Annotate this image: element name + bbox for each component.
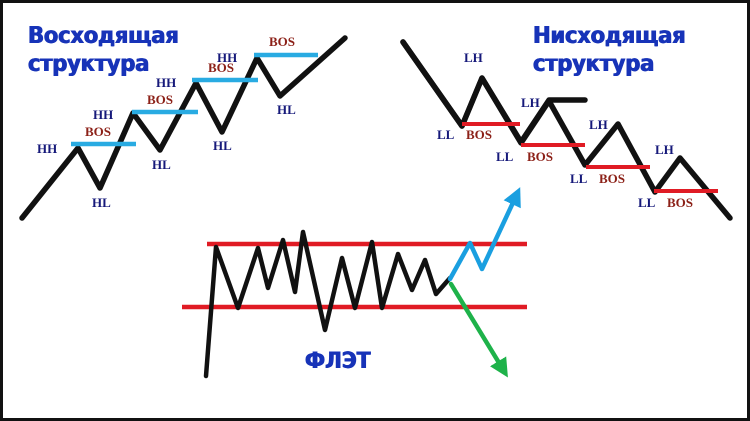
label-ll-4: LL (638, 196, 655, 209)
title-downtrend-line2: структура (533, 51, 654, 77)
label-hl-2: HL (152, 158, 171, 171)
label-hh-3: HH (156, 76, 176, 89)
label-ll-2: LL (496, 150, 513, 163)
label-ll-3: LL (570, 172, 587, 185)
title-uptrend-line2: структура (28, 51, 149, 77)
label-hl-1: HL (92, 196, 111, 209)
label-hh-2: HH (93, 108, 113, 121)
title-downtrend-line1: Нисходящая (533, 23, 685, 49)
label-bos-up-4: BOS (269, 35, 295, 48)
label-bos-down-1: BOS (466, 128, 492, 141)
label-bos-down-2: BOS (527, 150, 553, 163)
title-downtrend: Нисходящаяструктура (533, 22, 685, 78)
market-structure-infographic: Восходящаяструктура Нисходящаяструктура … (0, 0, 750, 421)
label-hl-3: HL (213, 139, 232, 152)
label-lh-3: LH (589, 118, 608, 131)
label-bos-up-3: BOS (208, 61, 234, 74)
breakout-up-arrow (450, 194, 517, 279)
title-uptrend-line1: Восходящая (28, 23, 179, 49)
label-lh-1: LH (464, 51, 483, 64)
label-lh-2: LH (521, 96, 540, 109)
label-bos-up-1: BOS (85, 125, 111, 138)
label-hl-4: HL (277, 103, 296, 116)
label-hh-1: HH (37, 142, 57, 155)
label-ll-1: LL (437, 128, 454, 141)
label-bos-down-3: BOS (599, 172, 625, 185)
label-lh-4: LH (655, 143, 674, 156)
label-bos-up-2: BOS (147, 93, 173, 106)
label-bos-down-4: BOS (667, 196, 693, 209)
title-flat: ФЛЭТ (305, 349, 371, 376)
title-uptrend: Восходящаяструктура (28, 22, 179, 78)
breakdown-down-arrow (451, 284, 504, 371)
